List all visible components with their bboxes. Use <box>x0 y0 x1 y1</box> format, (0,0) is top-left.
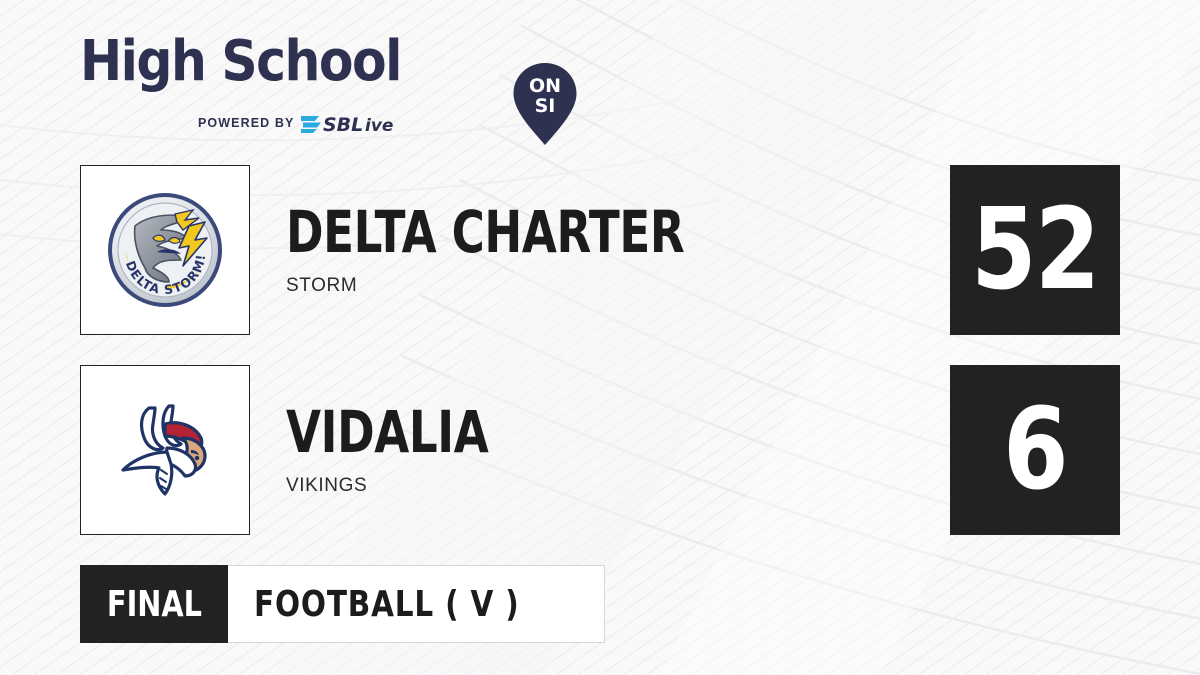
team-logo-box-delta-charter[interactable]: DELTA STORM! <box>80 165 250 335</box>
team-row: DELTA STORM! DELTA CHARTER STORM 52 <box>0 165 1200 335</box>
score-value: 6 <box>1003 394 1067 506</box>
status-badge-label: FINAL <box>106 584 201 625</box>
svg-text:SBL: SBL <box>323 114 363 134</box>
score-box-vidalia: 6 <box>950 365 1120 535</box>
powered-by-row: POWERED BY SBL ive <box>198 112 413 134</box>
team-logo-box-vidalia[interactable] <box>80 365 250 535</box>
on-si-pin-icon: ON SI <box>512 62 578 146</box>
team-mascot: VIKINGS <box>286 475 545 497</box>
team-name: VIDALIA <box>286 403 488 461</box>
team-name: DELTA CHARTER <box>286 203 684 261</box>
team-info-delta-charter: DELTA CHARTER STORM <box>286 165 797 335</box>
sport-label-box: FOOTBALL ( V ) <box>228 565 605 643</box>
team-mascot: STORM <box>286 275 797 297</box>
brand-wordmark: High School <box>80 30 510 94</box>
vidalia-vikings-logo <box>105 390 225 510</box>
game-status-bar: FINAL FOOTBALL ( V ) <box>80 565 605 643</box>
svg-text:ON: ON <box>529 75 561 97</box>
scoreboard-card: High School ON SI POWERED BY SBL ive <box>0 0 1200 675</box>
status-badge: FINAL <box>80 565 228 643</box>
score-value: 52 <box>971 194 1099 306</box>
team-info-vidalia: VIDALIA VIKINGS <box>286 365 545 535</box>
brand-header: High School ON SI POWERED BY SBL ive <box>80 30 510 140</box>
score-box-delta-charter: 52 <box>950 165 1120 335</box>
svg-text:ive: ive <box>365 116 393 134</box>
delta-storm-logo: DELTA STORM! <box>105 190 225 310</box>
sport-label: FOOTBALL ( V ) <box>254 584 520 625</box>
sblive-logo-icon: SBL ive <box>301 112 413 134</box>
team-row: VIDALIA VIKINGS 6 <box>0 365 1200 535</box>
powered-by-label: POWERED BY <box>198 116 294 130</box>
svg-text:SI: SI <box>535 95 556 117</box>
